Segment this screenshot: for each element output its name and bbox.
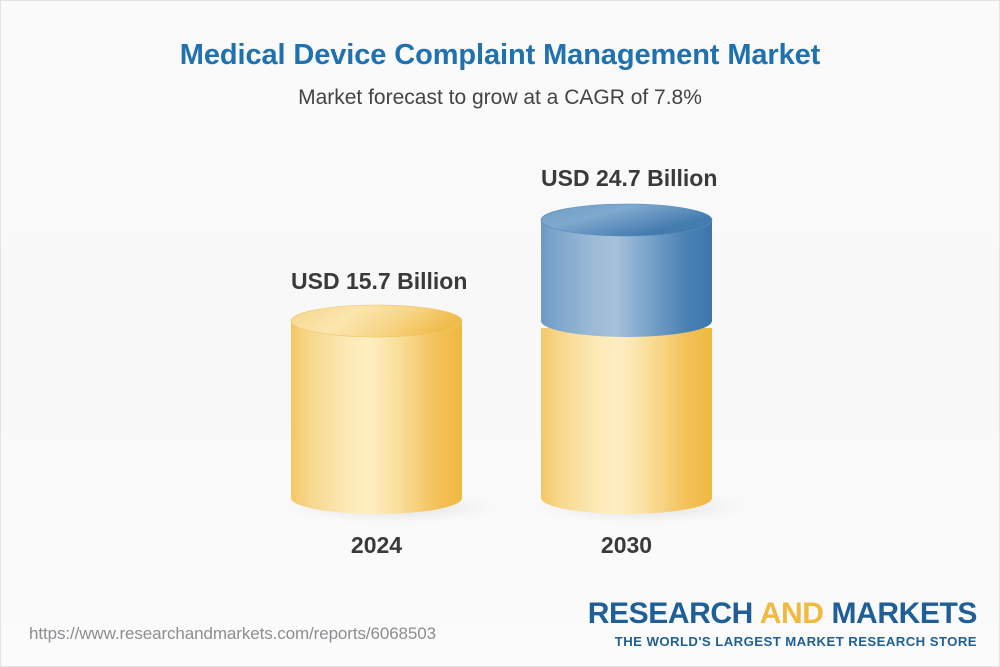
logo-text-markets: MARKETS [824, 597, 977, 630]
bar-chart: USD 15.7 Billion USD 24.7 Billion 2024 2… [1, 1, 1000, 667]
bar-2030-growth-segment [541, 220, 712, 337]
report-url[interactable]: https://www.researchandmarkets.com/repor… [29, 624, 436, 644]
logo-tagline: THE WORLD'S LARGEST MARKET RESEARCH STOR… [588, 635, 977, 648]
logo-text-research: RESEARCH [588, 597, 760, 630]
logo-text-and: AND [760, 597, 824, 630]
bar-2024[interactable] [291, 305, 462, 514]
infographic-canvas: Medical Device Complaint Management Mark… [0, 0, 1000, 667]
bar-2024-body [291, 321, 462, 514]
logo-wordmark: RESEARCH AND MARKETS [588, 599, 977, 629]
bar-2024-top-cap [291, 305, 462, 337]
researchandmarkets-logo[interactable]: RESEARCH AND MARKETS THE WORLD'S LARGEST… [588, 599, 977, 648]
category-label-2030: 2030 [541, 532, 712, 559]
bar-2030-top-cap [541, 204, 712, 236]
cylinder-bars-svg [1, 1, 1000, 667]
bar-2030-base-segment [541, 328, 712, 514]
bar-2030[interactable] [541, 204, 712, 514]
value-label-2024: USD 15.7 Billion [291, 268, 462, 295]
category-label-2024: 2024 [291, 532, 462, 559]
value-label-2030: USD 24.7 Billion [541, 165, 712, 192]
